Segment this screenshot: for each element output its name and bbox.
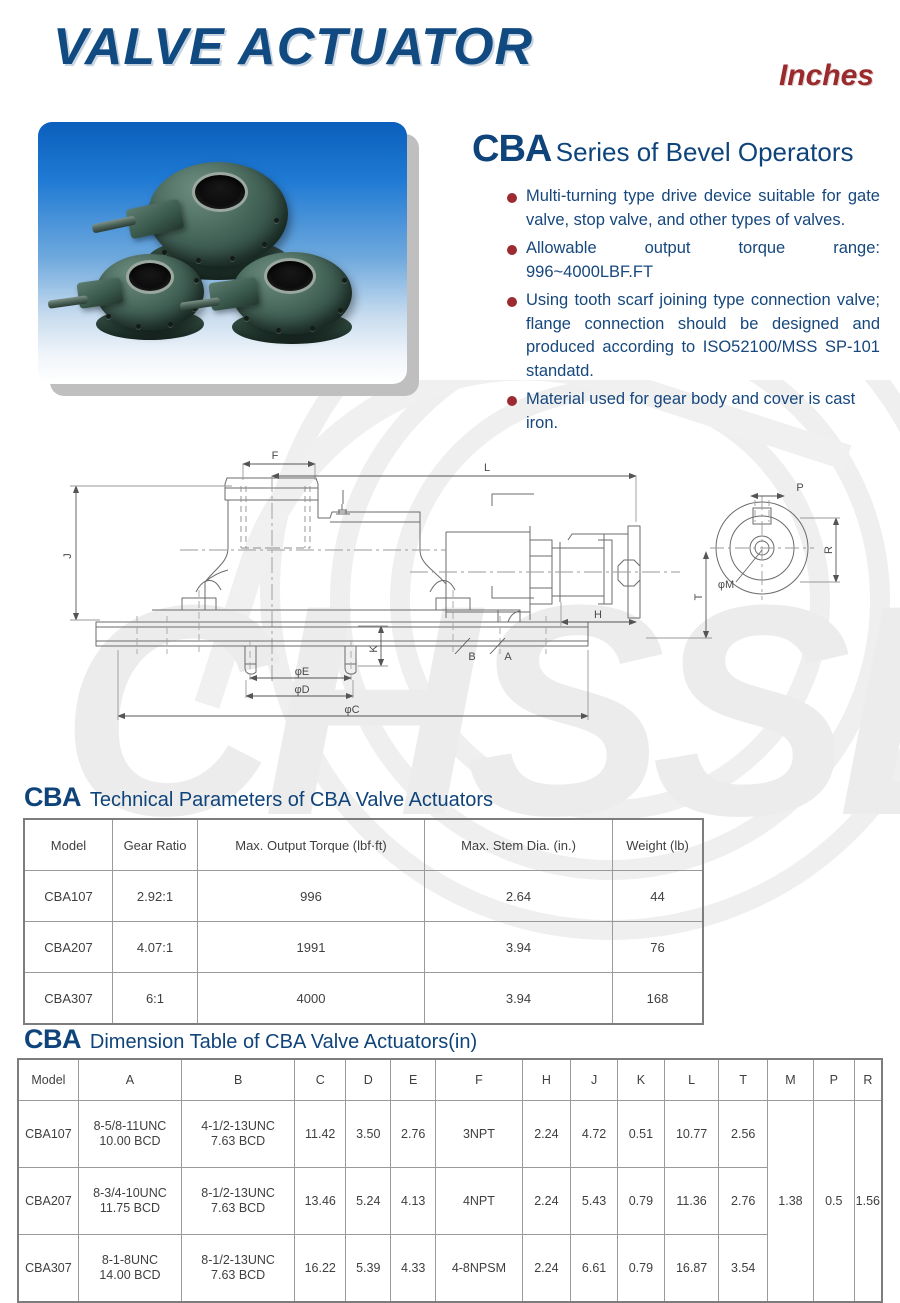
dim-label-phiE: φE: [295, 666, 309, 678]
cell-J: 5.43: [571, 1168, 618, 1235]
cell-model: CBA307: [18, 1235, 78, 1303]
cell-H: 2.24: [522, 1101, 571, 1168]
technical-drawing: F L J K φE φD φC H T B A P R φM: [0, 430, 900, 760]
cell-weight: 168: [613, 973, 704, 1025]
cell-P: 0.5: [813, 1101, 854, 1303]
col-weight: Weight (lb): [613, 819, 704, 871]
cell-F: 4-8NPSM: [436, 1235, 522, 1303]
cell-H: 2.24: [522, 1168, 571, 1235]
cell-A: 8-3/4-10UNC 11.75 BCD: [78, 1168, 181, 1235]
col-ratio: Gear Ratio: [113, 819, 198, 871]
product-photo: [38, 122, 415, 392]
col-torque: Max. Output Torque (lbf·ft): [198, 819, 425, 871]
technical-parameters-table: Model Gear Ratio Max. Output Torque (lbf…: [23, 818, 704, 1025]
cell-model: CBA107: [24, 871, 113, 922]
table-header-row: Model A B C D E F H J K L T M P R: [18, 1059, 882, 1101]
cell-C: 11.42: [295, 1101, 346, 1168]
cell-E: 2.76: [391, 1101, 436, 1168]
cell-K: 0.51: [617, 1101, 664, 1168]
cell-torque: 1991: [198, 922, 425, 973]
dim-section-code: CBA: [24, 1024, 81, 1054]
cell-stem: 2.64: [425, 871, 613, 922]
dim-label-K: K: [368, 645, 380, 653]
series-heading: CBA Series of Bevel Operators: [472, 128, 853, 171]
col-E: E: [391, 1059, 436, 1101]
col-R: R: [854, 1059, 882, 1101]
dim-label-T: T: [693, 593, 705, 600]
cell-F: 4NPT: [436, 1168, 522, 1235]
dim-label-A: A: [504, 651, 512, 663]
cell-model: CBA307: [24, 973, 113, 1025]
cell-E: 4.13: [391, 1168, 436, 1235]
cell-D: 5.39: [346, 1235, 391, 1303]
col-D: D: [346, 1059, 391, 1101]
cell-model: CBA207: [18, 1168, 78, 1235]
cell-C: 16.22: [295, 1235, 346, 1303]
table-header-row: Model Gear Ratio Max. Output Torque (lbf…: [24, 819, 703, 871]
list-item: Material used for gear body and cover is…: [486, 388, 880, 435]
cell-F: 3NPT: [436, 1101, 522, 1168]
cell-C: 13.46: [295, 1168, 346, 1235]
col-M: M: [768, 1059, 814, 1101]
cell-stem: 3.94: [425, 973, 613, 1025]
cell-torque: 996: [198, 871, 425, 922]
cell-K: 0.79: [617, 1235, 664, 1303]
table-row: CBA307 6:1 4000 3.94 168: [24, 973, 703, 1025]
dim-label-B: B: [468, 651, 475, 663]
list-item: Using tooth scarf joining type connectio…: [486, 289, 880, 383]
cell-D: 5.24: [346, 1168, 391, 1235]
col-B: B: [182, 1059, 295, 1101]
dim-label-phiD: φD: [294, 684, 309, 696]
cell-L: 10.77: [664, 1101, 719, 1168]
col-model: Model: [18, 1059, 78, 1101]
tech-section-title: Technical Parameters of CBA Valve Actuat…: [90, 789, 493, 811]
cell-L: 16.87: [664, 1235, 719, 1303]
cell-E: 4.33: [391, 1235, 436, 1303]
dim-label-phiC: φC: [344, 704, 359, 716]
dim-label-H: H: [594, 609, 602, 621]
col-T: T: [719, 1059, 768, 1101]
table-row: CBA207 4.07:1 1991 3.94 76: [24, 922, 703, 973]
series-code: CBA: [472, 128, 551, 170]
cell-model: CBA207: [24, 922, 113, 973]
table-row: CBA107 2.92:1 996 2.64 44: [24, 871, 703, 922]
actuator-right: [206, 250, 366, 350]
units-badge: Inches: [779, 59, 874, 93]
series-title: Series of Bevel Operators: [556, 137, 854, 167]
col-K: K: [617, 1059, 664, 1101]
bullet-dot-icon: [507, 193, 517, 203]
list-item: Multi-turning type drive device suitable…: [486, 185, 880, 232]
col-C: C: [295, 1059, 346, 1101]
cell-H: 2.24: [522, 1235, 571, 1303]
cell-model: CBA107: [18, 1101, 78, 1168]
cell-ratio: 4.07:1: [113, 922, 198, 973]
cell-T: 2.56: [719, 1101, 768, 1168]
table-row: CBA107 8-5/8-11UNC 10.00 BCD 4-1/2-13UNC…: [18, 1101, 882, 1168]
cell-A: 8-5/8-11UNC 10.00 BCD: [78, 1101, 181, 1168]
col-P: P: [813, 1059, 854, 1101]
cell-M: 1.38: [768, 1101, 814, 1303]
cell-T: 3.54: [719, 1235, 768, 1303]
col-F: F: [436, 1059, 522, 1101]
page-title: VALVE ACTUATOR: [53, 17, 533, 77]
dim-label-F: F: [272, 450, 279, 462]
table-row: CBA207 8-3/4-10UNC 11.75 BCD 8-1/2-13UNC…: [18, 1168, 882, 1235]
cell-J: 4.72: [571, 1101, 618, 1168]
col-stem: Max. Stem Dia. (in.): [425, 819, 613, 871]
dim-label-phiM: φM: [718, 579, 734, 591]
cell-L: 11.36: [664, 1168, 719, 1235]
col-A: A: [78, 1059, 181, 1101]
cell-B: 8-1/2-13UNC 7.63 BCD: [182, 1235, 295, 1303]
cell-torque: 4000: [198, 973, 425, 1025]
list-item: Allowable output torque range: 996~4000L…: [486, 237, 880, 284]
dim-section-title: Dimension Table of CBA Valve Actuators(i…: [90, 1031, 477, 1053]
cell-K: 0.79: [617, 1168, 664, 1235]
cell-R: 1.56: [854, 1101, 882, 1303]
dim-label-P: P: [796, 482, 803, 494]
feature-text: Allowable output torque range: 996~4000L…: [526, 237, 880, 284]
feature-text: Material used for gear body and cover is…: [526, 388, 880, 435]
cell-weight: 76: [613, 922, 704, 973]
dim-label-J: J: [62, 553, 74, 559]
cell-ratio: 2.92:1: [113, 871, 198, 922]
dim-label-R: R: [823, 546, 835, 554]
col-H: H: [522, 1059, 571, 1101]
feature-text: Multi-turning type drive device suitable…: [526, 185, 880, 232]
cell-weight: 44: [613, 871, 704, 922]
photo-canvas: [38, 122, 407, 384]
cell-D: 3.50: [346, 1101, 391, 1168]
table-row: CBA307 8-1-8UNC 14.00 BCD 8-1/2-13UNC 7.…: [18, 1235, 882, 1303]
cell-A: 8-1-8UNC 14.00 BCD: [78, 1235, 181, 1303]
cell-T: 2.76: [719, 1168, 768, 1235]
tech-section-code: CBA: [24, 782, 81, 812]
col-model: Model: [24, 819, 113, 871]
feature-text: Using tooth scarf joining type connectio…: [526, 289, 880, 383]
dim-section-heading: CBA Dimension Table of CBA Valve Actuato…: [24, 1024, 477, 1055]
col-L: L: [664, 1059, 719, 1101]
col-J: J: [571, 1059, 618, 1101]
cell-B: 4-1/2-13UNC 7.63 BCD: [182, 1101, 295, 1168]
bullet-dot-icon: [507, 396, 517, 406]
bullet-dot-icon: [507, 297, 517, 307]
dimension-table: Model A B C D E F H J K L T M P R CBA107…: [17, 1058, 883, 1303]
actuator-left: [76, 252, 216, 344]
cell-stem: 3.94: [425, 922, 613, 973]
cell-B: 8-1/2-13UNC 7.63 BCD: [182, 1168, 295, 1235]
bullet-dot-icon: [507, 245, 517, 255]
dim-label-L: L: [484, 462, 490, 474]
cell-ratio: 6:1: [113, 973, 198, 1025]
tech-section-heading: CBA Technical Parameters of CBA Valve Ac…: [24, 782, 493, 813]
cell-J: 6.61: [571, 1235, 618, 1303]
feature-list: Multi-turning type drive device suitable…: [486, 185, 880, 440]
